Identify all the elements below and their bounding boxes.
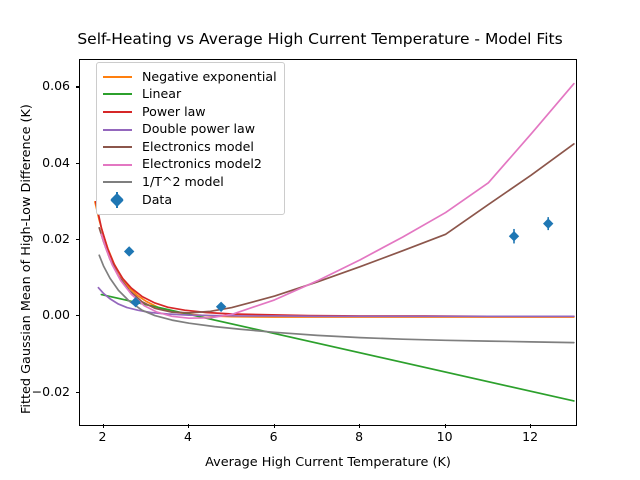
legend-label: 1/T^2 model — [142, 176, 224, 189]
series-line-linear — [101, 295, 573, 401]
legend-label: Data — [142, 194, 172, 207]
y-tick-mark — [76, 239, 80, 240]
legend-label: Negative exponential — [142, 71, 277, 84]
chart-title: Self-Heating vs Average High Current Tem… — [0, 30, 640, 48]
legend-label: Linear — [142, 88, 181, 101]
legend-label: Electronics model2 — [142, 158, 262, 171]
legend-label: Electronics model — [142, 141, 254, 154]
data-point-marker[interactable] — [543, 218, 553, 228]
data-point-marker[interactable] — [124, 246, 134, 256]
legend-swatch-icon — [102, 193, 133, 207]
x-tick-mark — [103, 424, 104, 428]
x-tick-label: 12 — [510, 429, 550, 444]
legend-swatch-icon — [102, 175, 133, 189]
legend-item[interactable]: Data — [102, 191, 277, 209]
x-tick-mark — [188, 424, 189, 428]
y-tick-label: 0.06 — [24, 78, 70, 93]
legend-label: Power law — [142, 106, 206, 119]
y-tick-mark — [76, 163, 80, 164]
x-tick-label: 2 — [83, 429, 123, 444]
x-tick-label: 8 — [339, 429, 379, 444]
legend-swatch-icon — [102, 140, 133, 154]
series-line-power-law — [96, 202, 574, 316]
data-point-marker[interactable] — [509, 231, 519, 241]
legend-swatch-icon — [102, 158, 133, 172]
x-tick-label: 10 — [425, 429, 465, 444]
legend: Negative exponentialLinearPower lawDoubl… — [96, 62, 285, 215]
figure-canvas: Self-Heating vs Average High Current Tem… — [0, 0, 640, 480]
legend-line-icon — [103, 181, 132, 183]
x-tick-mark — [530, 424, 531, 428]
legend-line-icon — [103, 129, 132, 131]
legend-item[interactable]: Electronics model2 — [102, 156, 277, 174]
x-tick-label: 4 — [168, 429, 208, 444]
legend-item[interactable]: Power law — [102, 103, 277, 121]
legend-line-icon — [103, 111, 132, 113]
x-tick-mark — [445, 424, 446, 428]
y-tick-mark — [76, 392, 80, 393]
legend-swatch-icon — [102, 123, 133, 137]
legend-line-icon — [103, 164, 132, 166]
legend-swatch-icon — [102, 105, 133, 119]
y-tick-mark — [76, 315, 80, 316]
x-tick-mark — [359, 424, 360, 428]
y-axis-label: Fitted Gaussian Mean of High-Low Differe… — [19, 104, 34, 414]
legend-item[interactable]: Negative exponential — [102, 68, 277, 86]
series-line-1-t-2-model — [99, 255, 574, 342]
legend-item[interactable]: Double power law — [102, 121, 277, 139]
legend-item[interactable]: Linear — [102, 86, 277, 104]
series-line-negative-exponential — [95, 202, 574, 317]
legend-line-icon — [103, 146, 132, 148]
legend-line-icon — [103, 76, 132, 78]
x-tick-label: 6 — [254, 429, 294, 444]
x-axis-label: Average High Current Temperature (K) — [79, 455, 577, 470]
legend-swatch-icon — [102, 70, 133, 84]
legend-swatch-icon — [102, 87, 133, 101]
y-tick-mark — [76, 86, 80, 87]
legend-item[interactable]: Electronics model — [102, 138, 277, 156]
legend-item[interactable]: 1/T^2 model — [102, 174, 277, 192]
legend-marker-icon — [110, 193, 124, 207]
x-tick-mark — [274, 424, 275, 428]
legend-label: Double power law — [142, 123, 255, 136]
legend-line-icon — [103, 93, 132, 95]
